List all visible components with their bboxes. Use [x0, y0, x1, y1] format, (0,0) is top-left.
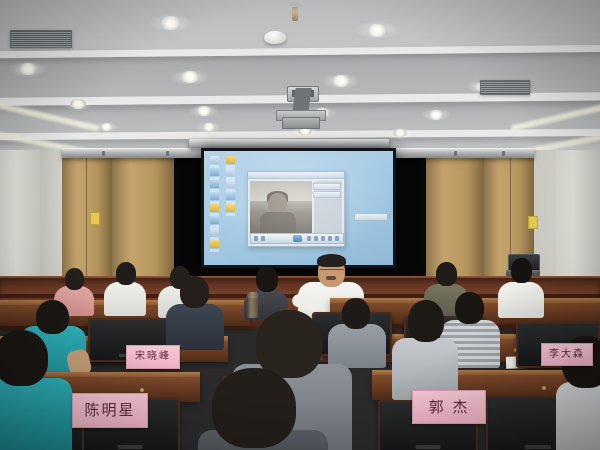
play-button-icon: [293, 235, 302, 242]
downlight-icon: [100, 123, 113, 131]
screen-casing: [189, 139, 389, 148]
desktop-icon: x: [210, 216, 219, 228]
placard-chen-mingxing: 陈明星: [72, 393, 148, 428]
downlight-icon: [393, 129, 406, 137]
desktop-icon: x: [226, 168, 235, 180]
downlight-icon: [366, 24, 389, 38]
media-player-controls: [250, 233, 344, 244]
desktop-icon: x: [210, 204, 219, 216]
placard-row2-right: 李大森: [541, 343, 593, 366]
list-item: [166, 276, 224, 346]
wall-sticker: [528, 216, 538, 229]
downlight-icon: [159, 16, 182, 30]
desktop-icon: x: [226, 156, 235, 168]
downlight-icon: [180, 71, 200, 83]
downlight-icon: [331, 75, 351, 87]
taskbar-window-button: [354, 213, 388, 221]
air-vent-icon: [10, 30, 72, 48]
list-item: [0, 330, 72, 450]
desktop-icon: x: [210, 240, 219, 252]
smoke-detector-icon: [264, 31, 286, 44]
downlight-icon: [428, 110, 444, 120]
air-vent-icon: [480, 80, 530, 95]
list-item: [392, 300, 458, 396]
media-player-sidepanel: [314, 181, 342, 233]
attendee-foreground: [198, 368, 328, 450]
desktop-icon: x: [226, 180, 235, 192]
desktop-icon: x: [226, 192, 235, 204]
media-player-titlebar: [248, 172, 344, 179]
conference-room-photo: xxxxxxxxxxxxx: [0, 0, 600, 450]
desktop-icon: x: [210, 192, 219, 204]
downlight-icon: [196, 106, 212, 116]
placard-row2-left: 宋晓峰: [126, 345, 180, 369]
downlight-icon: [70, 99, 86, 109]
list-item: [498, 258, 544, 316]
wall-sticker: [90, 212, 100, 225]
placard-guo-jie: 郭 杰: [412, 390, 486, 424]
desktop-icon: x: [210, 180, 219, 192]
sprinkler-head-icon: [292, 6, 298, 21]
desktop-icon: x: [210, 168, 219, 180]
desktop-icon: x: [210, 156, 219, 168]
downlight-icon: [18, 63, 38, 75]
ceiling-projector-icon: [272, 86, 328, 128]
media-player-video: [250, 181, 312, 233]
projection-screen: xxxxxxxxxxxxx: [201, 148, 396, 268]
downlight-icon: [202, 123, 215, 131]
desktop-icon: x: [226, 204, 235, 216]
list-item: [104, 262, 146, 314]
desktop-icon: x: [210, 228, 219, 240]
media-player-window: [247, 171, 345, 247]
